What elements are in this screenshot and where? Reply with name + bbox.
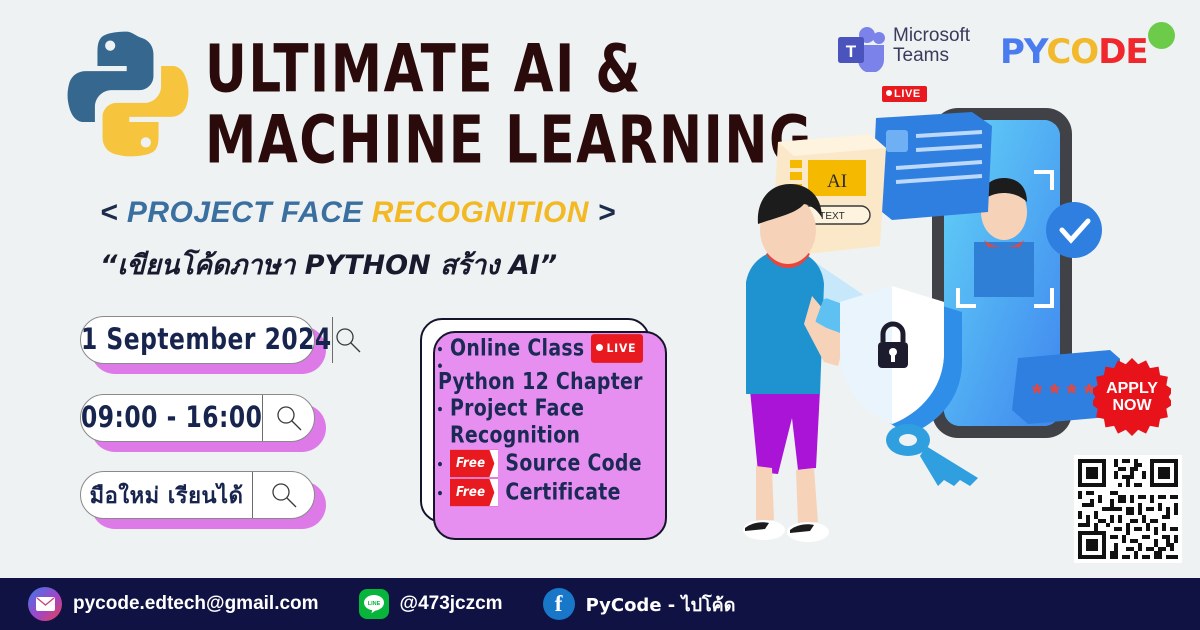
pycode-green-dot-icon xyxy=(1148,22,1175,49)
footer-facebook[interactable]: f PyCode - ไปโค้ด xyxy=(543,588,736,620)
svg-text:T: T xyxy=(846,42,857,61)
bracket-close: > xyxy=(598,196,616,229)
feature-label-continuation: Recognition xyxy=(450,422,580,450)
list-item: Free Source Code xyxy=(438,449,648,479)
teams-icon: T xyxy=(836,26,888,72)
subtitle-thai: “เขียนโค้ดภาษา PYTHON สร้าง AI” xyxy=(100,243,557,286)
bullet-dot xyxy=(438,346,442,350)
pycode-logo: PYCODE xyxy=(1000,32,1148,72)
free-ribbon-badge: Free xyxy=(450,450,498,477)
email-icon xyxy=(28,587,62,621)
info-pill-level[interactable]: มือใหม่ เรียนได้ xyxy=(80,471,315,519)
search-icon[interactable] xyxy=(262,395,314,441)
apply-line-2: NOW xyxy=(1112,397,1151,414)
teams-wordmark: Microsoft Teams xyxy=(893,26,970,66)
bullet-dot xyxy=(438,406,442,410)
footer-line[interactable]: LINE @473jczcm xyxy=(359,589,503,619)
footer-email-label: pycode.edtech@gmail.com xyxy=(73,593,319,615)
free-ribbon-badge: Free xyxy=(450,479,498,506)
info-pill-time[interactable]: 09:00 - 16:00 xyxy=(80,394,315,442)
feature-label: Python 12 Chapter xyxy=(438,368,643,396)
bullet-dot xyxy=(438,461,442,465)
footer-facebook-label: PyCode - ไปโค้ด xyxy=(586,590,736,619)
subtitle-gold: RECOGNITION xyxy=(372,196,589,229)
headline-line-2: MACHINE LEARNING xyxy=(205,109,735,173)
live-badge: LIVE xyxy=(591,334,643,363)
pycode-part-2: CO xyxy=(1046,32,1098,72)
list-item: Project Face xyxy=(438,395,648,423)
apply-line-1: APPLY xyxy=(1106,380,1158,397)
list-item: Free Certificate xyxy=(438,478,648,508)
feature-label: Online Class xyxy=(450,335,584,363)
line-wordmark: LINE xyxy=(367,601,380,607)
feature-label: Source Code xyxy=(505,450,641,478)
info-pill-level-label: มือใหม่ เรียนได้ xyxy=(81,478,252,513)
qr-code[interactable] xyxy=(1074,455,1182,563)
pycode-part-3: DE xyxy=(1098,32,1147,72)
face-id-card xyxy=(872,112,992,220)
info-pill-date-label: 1 September 2024 xyxy=(81,323,332,357)
footer-bar: pycode.edtech@gmail.com LINE @473jczcm f… xyxy=(0,578,1200,630)
info-pill-time-label: 09:00 - 16:00 xyxy=(81,401,262,435)
list-item-continuation: Recognition xyxy=(438,422,648,450)
face-recognition-illustration: AI TEXT xyxy=(700,90,1120,570)
line-icon: LINE xyxy=(359,589,389,619)
info-pill-date[interactable]: 1 September 2024 xyxy=(80,316,315,364)
subtitle-project: < PROJECT FACE RECOGNITION > xyxy=(100,196,616,230)
search-icon[interactable] xyxy=(332,317,363,363)
search-icon[interactable] xyxy=(252,472,314,518)
page-title: ULTIMATE AI & MACHINE LEARNING xyxy=(205,38,705,162)
feature-list-box: Online Class LIVE Python 12 Chapter Proj… xyxy=(420,318,650,523)
footer-line-label: @473jczcm xyxy=(400,593,503,615)
feature-label: Certificate xyxy=(505,479,620,507)
headline-line-1: ULTIMATE AI & xyxy=(205,38,735,102)
check-circle-icon xyxy=(1046,202,1102,258)
microsoft-teams-logo: T Microsoft Teams LIVE xyxy=(836,26,970,72)
facebook-icon: f xyxy=(543,588,575,620)
list-item: Python 12 Chapter xyxy=(438,364,648,396)
ai-card-button: TEXT xyxy=(819,211,845,222)
subtitle-blue: PROJECT FACE xyxy=(127,196,363,229)
feature-label: Project Face xyxy=(450,395,584,423)
bullet-dot xyxy=(438,490,442,494)
python-logo xyxy=(58,24,198,164)
bracket-open: < xyxy=(100,196,118,229)
pycode-part-1: PY xyxy=(1000,32,1046,72)
list-item: Online Class LIVE xyxy=(438,333,648,365)
footer-email[interactable]: pycode.edtech@gmail.com xyxy=(28,587,319,621)
live-dot-icon xyxy=(596,344,603,351)
ai-card-label: AI xyxy=(827,171,847,192)
